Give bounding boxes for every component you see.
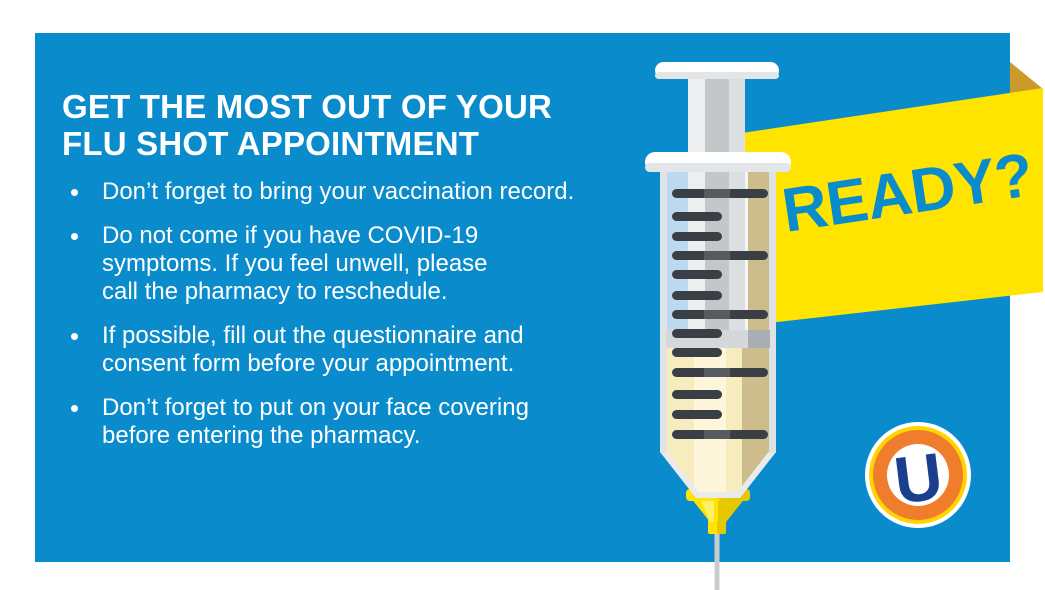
bullet-line: call the pharmacy to reschedule.: [102, 278, 662, 306]
bullet-dot-icon: [71, 333, 78, 340]
bullet-line: If possible, fill out the questionnaire …: [102, 322, 662, 350]
bullet-dot-icon: [71, 189, 78, 196]
page-title: GET THE MOST OUT OF YOUR FLU SHOT APPOIN…: [62, 88, 662, 162]
bullet-line: Don’t forget to put on your face coverin…: [102, 394, 662, 422]
list-item: Don’t forget to bring your vaccination r…: [62, 178, 662, 206]
list-item: Do not come if you have COVID-19 symptom…: [62, 222, 662, 306]
list-item: If possible, fill out the questionnaire …: [62, 322, 662, 378]
list-item: Don’t forget to put on your face coverin…: [62, 394, 662, 450]
bullet-line: Do not come if you have COVID-19: [102, 222, 662, 250]
bullet-line: Don’t forget to bring your vaccination r…: [102, 178, 662, 206]
bullet-dot-icon: [71, 233, 78, 240]
logo-letter: U: [890, 438, 946, 517]
headline-line-2: FLU SHOT APPOINTMENT: [62, 125, 662, 162]
tips-list: Don’t forget to bring your vaccination r…: [62, 178, 662, 450]
poster-copy: GET THE MOST OUT OF YOUR FLU SHOT APPOIN…: [62, 88, 662, 450]
headline-line-1: GET THE MOST OUT OF YOUR: [62, 88, 662, 125]
bullet-line: symptoms. If you feel unwell, please: [102, 250, 662, 278]
bullet-line: consent form before your appointment.: [102, 350, 662, 378]
bullet-line: before entering the pharmacy.: [102, 422, 662, 450]
bullet-dot-icon: [71, 405, 78, 412]
ribbon-fold-icon: [1010, 62, 1043, 93]
poster-canvas: READY?: [0, 0, 1045, 590]
uniprix-logo: U: [865, 422, 971, 528]
